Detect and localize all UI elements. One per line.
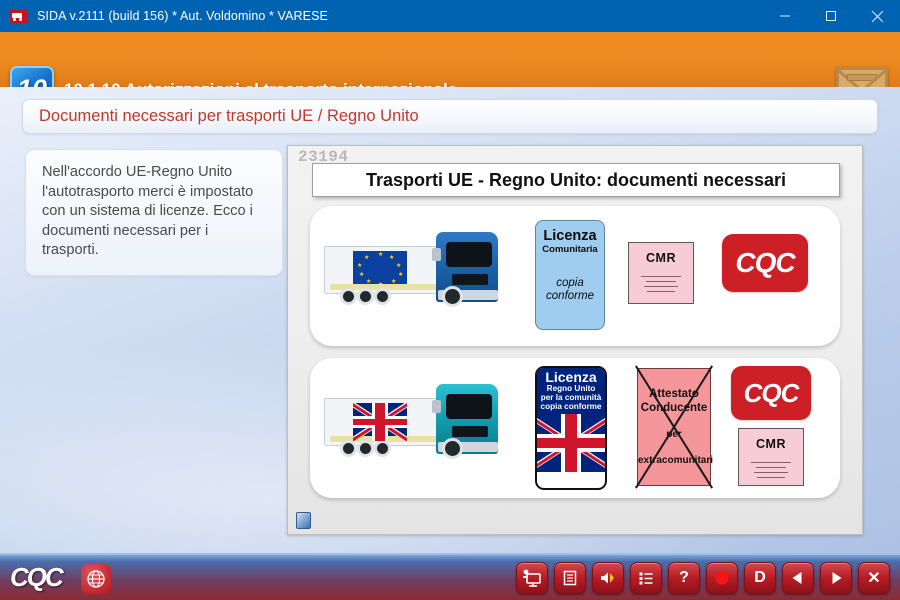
doc-cmr-label: CMR [756, 437, 786, 451]
previous-button[interactable] [782, 562, 814, 594]
doc-line-2: Regno Unito [537, 384, 605, 393]
toolbar-buttons: ? D ✕ [516, 562, 890, 594]
wooden-crate-icon [836, 67, 888, 87]
record-button[interactable] [706, 562, 738, 594]
maximize-button[interactable] [808, 0, 854, 32]
doc-lines [641, 272, 681, 296]
wheel [357, 440, 374, 457]
doc-line-2: Comunitaria [542, 244, 597, 255]
doc-line-1: Licenza [543, 228, 596, 244]
dictionary-button[interactable]: D [744, 562, 776, 594]
wheel [357, 288, 374, 305]
slide-row-eu: ★ ★ ★ ★ ★ ★ ★ ★ ★ ★ [310, 206, 840, 346]
chapter-badge: 10 [10, 66, 54, 87]
doc-line-1: Licenza [537, 370, 605, 384]
doc-header: Licenza Regno Unito per la comunità copi… [537, 368, 605, 414]
doc-cqc-badge: CQC [722, 234, 808, 292]
audio-button[interactable] [592, 562, 624, 594]
note-panel: Nell'accordo UE-Regno Unito l'autotraspo… [25, 149, 283, 276]
doc-cqc-badge: CQC [731, 366, 811, 420]
title-bar: SIDA v.2111 (build 156) * Aut. Voldomino… [0, 0, 900, 32]
page-title: 10.1.10 Autorizzazioni al trasporto inte… [64, 80, 457, 87]
slide-marker-icon [296, 512, 311, 529]
truck-icon [10, 9, 28, 23]
cqc-label: CQC [735, 247, 794, 279]
window-controls [762, 0, 900, 32]
doc-cmr: CMR [738, 428, 804, 486]
mirror [432, 248, 441, 261]
uk-flag [353, 403, 407, 441]
uk-truck [324, 376, 514, 481]
grill [452, 274, 488, 285]
help-button[interactable]: ? [668, 562, 700, 594]
slide-title-box: Trasporti UE - Regno Unito: documenti ne… [312, 163, 840, 197]
doc-licenza-comunitaria: Licenza Comunitaria copia conforme [535, 220, 605, 330]
mirror [432, 400, 441, 413]
uk-flag [537, 414, 605, 472]
document-button[interactable] [554, 562, 586, 594]
doc-lines [751, 458, 791, 482]
doc-line-4: copia conforme [537, 402, 605, 411]
wheel [340, 288, 357, 305]
note-text: Nell'accordo UE-Regno Unito l'autotraspo… [42, 163, 268, 261]
slide-title-text: Trasporti UE - Regno Unito: documenti ne… [366, 170, 786, 191]
doc-licenza-regno-unito: Licenza Regno Unito per la comunità copi… [535, 366, 607, 490]
windshield [446, 394, 492, 419]
wheel [442, 286, 463, 307]
doc-cmr: CMR [628, 242, 694, 304]
grill [452, 426, 488, 437]
close-button[interactable] [854, 0, 900, 32]
chapter-header: 10 10.1.10 Autorizzazioni al trasporto i… [0, 32, 900, 87]
section-title-bar: Documenti necessari per trasporti UE / R… [22, 99, 878, 134]
windshield [446, 242, 492, 267]
page-body: Documenti necessari per trasporti UE / R… [0, 87, 900, 553]
globe-icon[interactable] [81, 564, 111, 594]
wheel [374, 440, 391, 457]
slide-row-uk: Licenza Regno Unito per la comunità copi… [310, 358, 840, 498]
doc-line-3: per la comunità [537, 393, 605, 402]
doc-line-3: per [638, 429, 710, 441]
doc-line-3: copia conforme [546, 277, 594, 303]
section-title: Documenti necessari per trasporti UE / R… [39, 107, 419, 126]
doc-line-2: Conducente [638, 401, 710, 415]
eu-truck: ★ ★ ★ ★ ★ ★ ★ ★ ★ ★ [324, 224, 514, 329]
crate-label [847, 74, 877, 81]
wheel [442, 438, 463, 459]
close-x-button[interactable]: ✕ [858, 562, 890, 594]
minimize-button[interactable] [762, 0, 808, 32]
cqc-brand-logo: CQC [10, 562, 62, 593]
doc-cmr-label: CMR [646, 251, 676, 265]
next-button[interactable] [820, 562, 852, 594]
index-button[interactable] [630, 562, 662, 594]
window-title: SIDA v.2111 (build 156) * Aut. Voldomino… [37, 9, 328, 23]
cqc-label: CQC [744, 378, 799, 409]
bottom-toolbar: CQC [0, 553, 900, 600]
slide-panel[interactable]: 23194 Trasporti UE - Regno Unito: docume… [287, 145, 863, 535]
wheel [340, 440, 357, 457]
doc-attestato-conducente: Attestato Conducente per extracomunitari [637, 368, 711, 486]
presentation-mode-button[interactable] [516, 562, 548, 594]
wheel [374, 288, 391, 305]
application-window: SIDA v.2111 (build 156) * Aut. Voldomino… [0, 0, 900, 600]
